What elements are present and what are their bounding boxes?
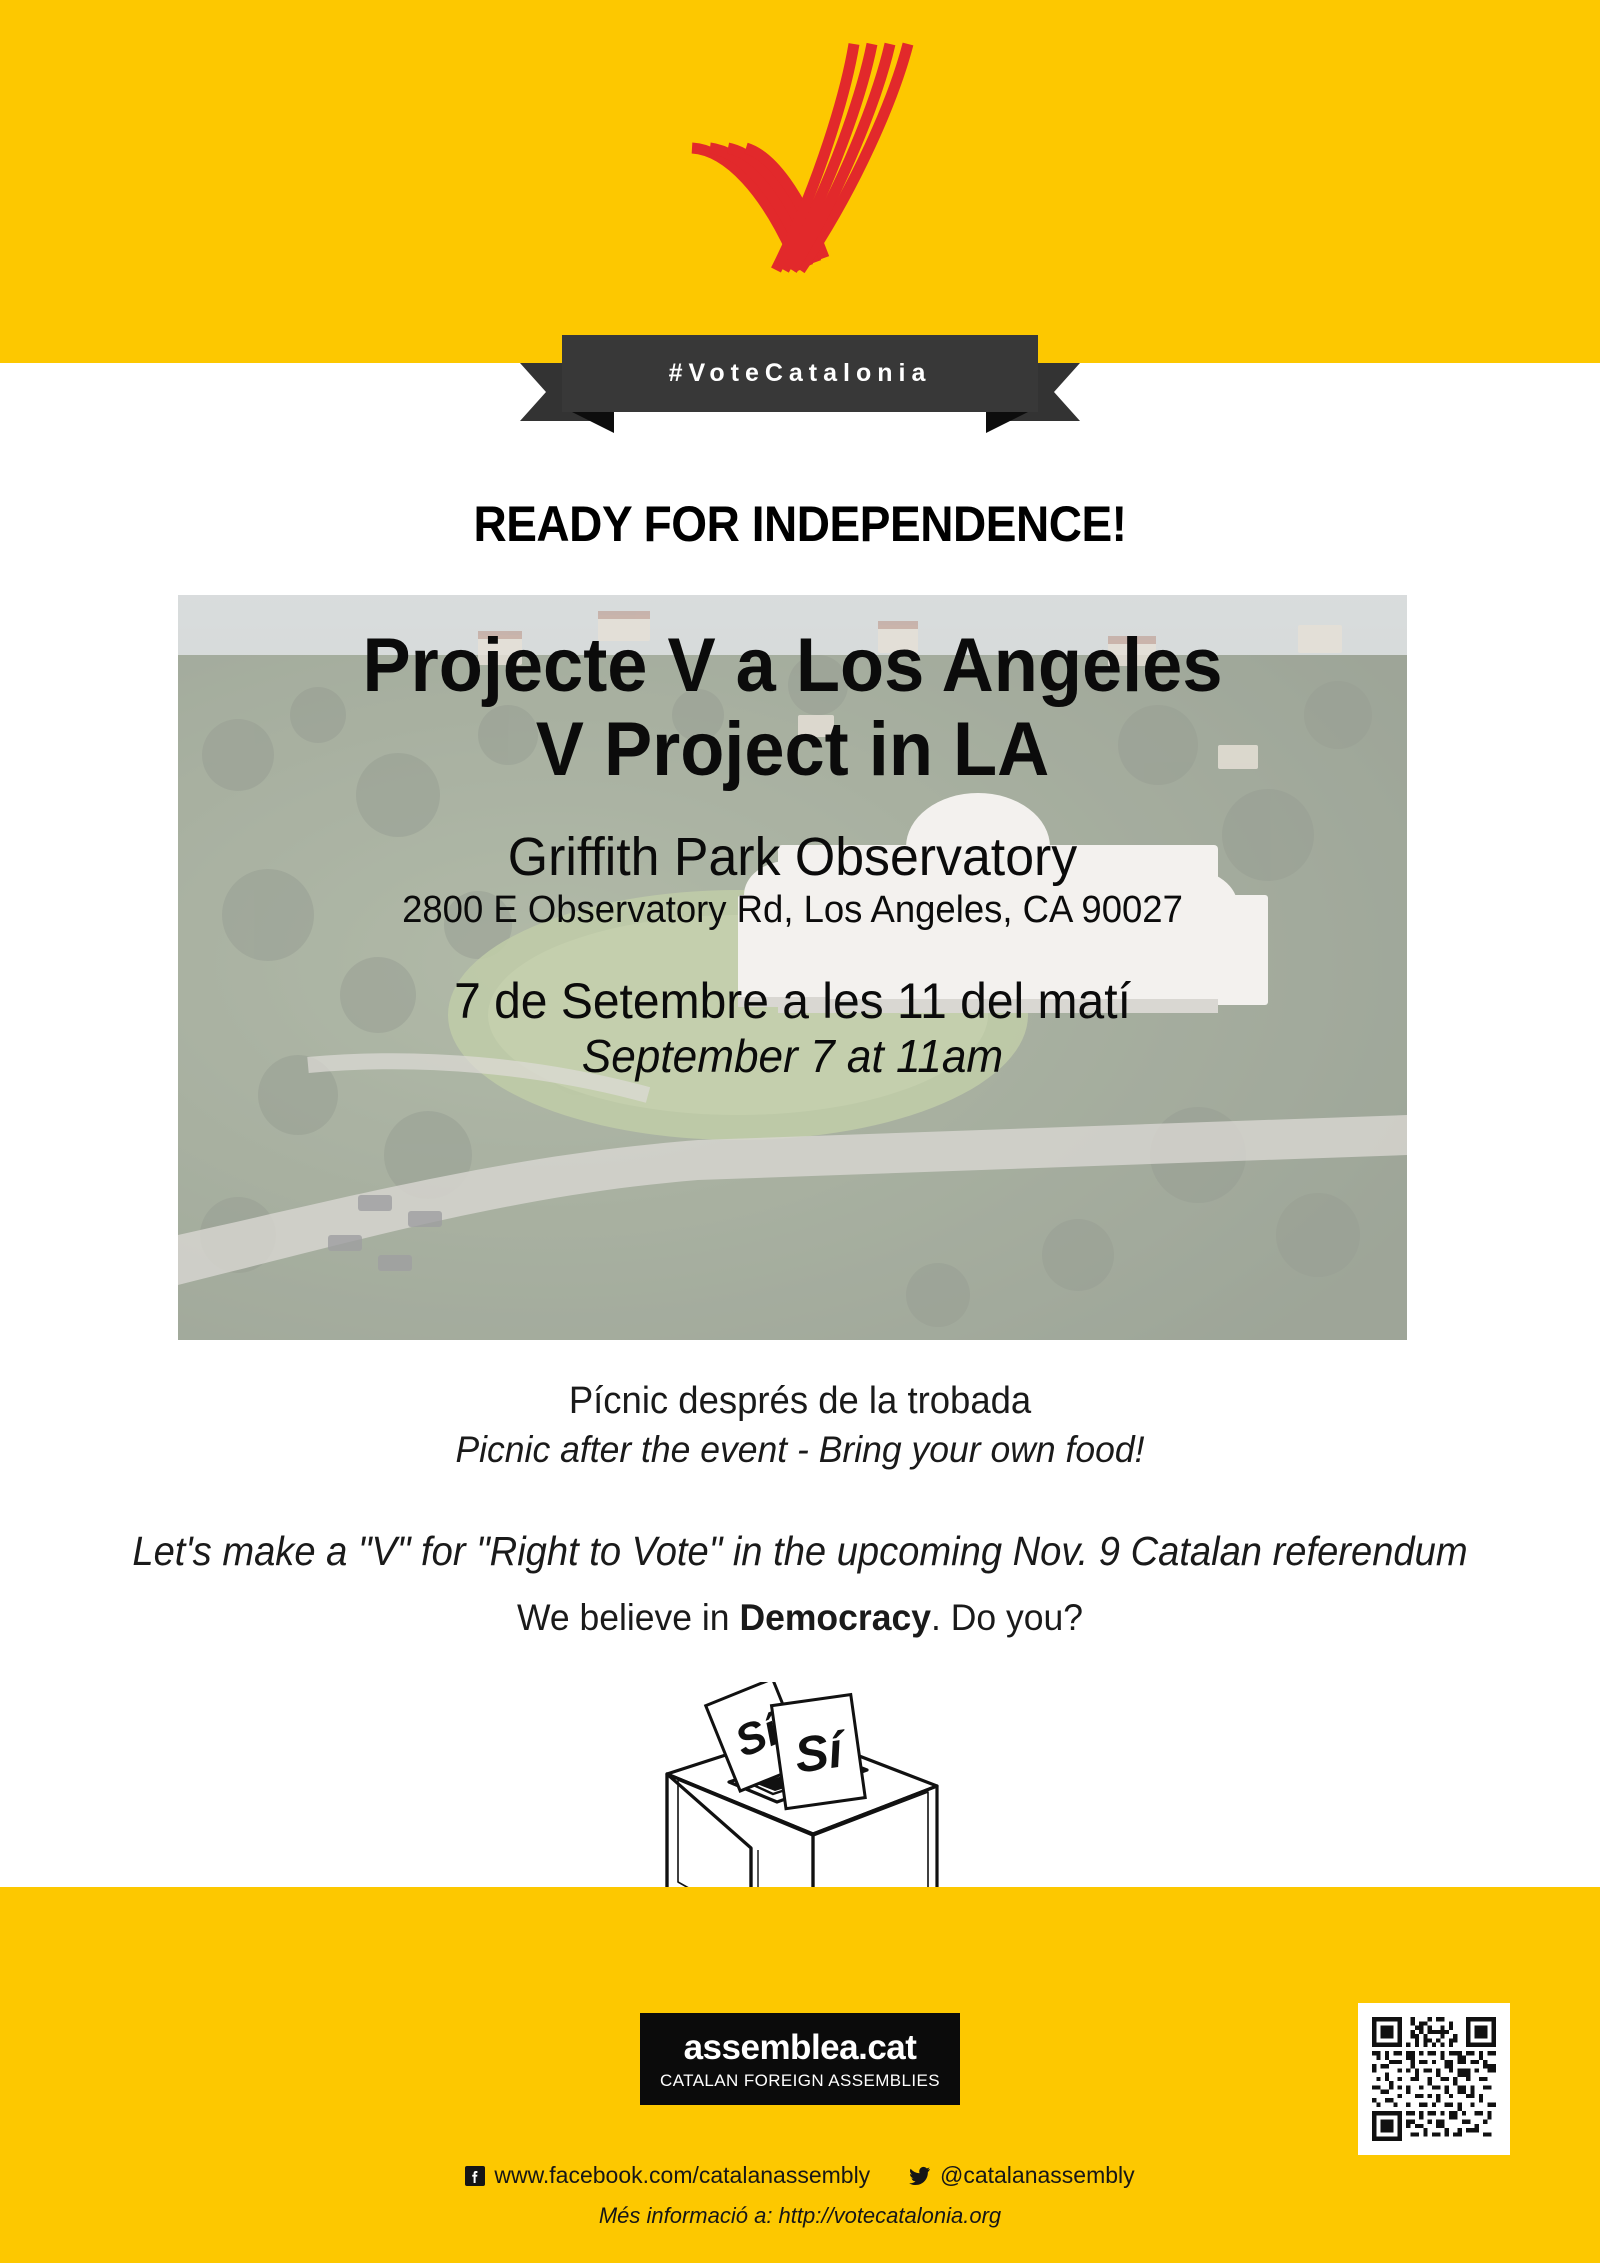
picnic-line-english: Picnic after the event - Bring your own …: [32, 1429, 1568, 1471]
event-date-english: September 7 at 11am: [203, 1031, 1383, 1082]
democracy-emphasis: Democracy: [739, 1597, 931, 1638]
facebook-link[interactable]: www.facebook.com/catalanassembly: [465, 2162, 870, 2189]
ribbon-body: #VoteCatalonia: [562, 335, 1038, 412]
hashtag-ribbon: #VoteCatalonia: [520, 335, 1080, 435]
democracy-text-before: We believe in: [517, 1597, 739, 1638]
referendum-line: Let's make a "V" for "Right to Vote" in …: [56, 1528, 1544, 1575]
assemblea-logo[interactable]: assemblea.cat CATALAN FOREIGN ASSEMBLIES: [640, 2013, 960, 2105]
hero-title-catalan: Projecte V a Los Angeles: [209, 627, 1377, 705]
hero-title-english: V Project in LA: [209, 711, 1377, 789]
facebook-icon: [465, 2166, 485, 2186]
democracy-line: We believe in Democracy. Do you?: [32, 1597, 1568, 1639]
venue-name: Griffith Park Observatory: [203, 828, 1383, 886]
assemblea-logo-subtitle: CATALAN FOREIGN ASSEMBLIES: [660, 2072, 940, 2089]
democracy-message: Let's make a "V" for "Right to Vote" in …: [0, 1528, 1600, 1639]
facebook-url: www.facebook.com/catalanassembly: [494, 2162, 870, 2189]
qr-code-icon[interactable]: [1358, 2003, 1510, 2155]
event-date-catalan: 7 de Setembre a les 11 del matí: [203, 974, 1383, 1029]
twitter-handle: @catalanassembly: [940, 2162, 1135, 2189]
picnic-line-catalan: Pícnic després de la trobada: [32, 1380, 1568, 1423]
twitter-link[interactable]: @catalanassembly: [909, 2162, 1135, 2189]
hashtag-text: #VoteCatalonia: [669, 359, 932, 388]
venue-address: 2800 E Observatory Rd, Los Angeles, CA 9…: [203, 890, 1383, 932]
hero-photo-block: Projecte V a Los Angeles V Project in LA…: [178, 595, 1407, 1340]
page-title: READY FOR INDEPENDENCE!: [64, 495, 1536, 553]
more-info-line[interactable]: Més informació a: http://votecatalonia.o…: [0, 2203, 1600, 2229]
assemblea-logo-title: assemblea.cat: [684, 2030, 917, 2065]
democracy-text-after: . Do you?: [931, 1597, 1083, 1638]
twitter-bird-icon: [909, 2166, 931, 2186]
picnic-note: Pícnic després de la trobada Picnic afte…: [0, 1380, 1600, 1471]
catalan-v-flag-icon: [680, 38, 920, 278]
social-links: www.facebook.com/catalanassembly @catala…: [0, 2162, 1600, 2192]
